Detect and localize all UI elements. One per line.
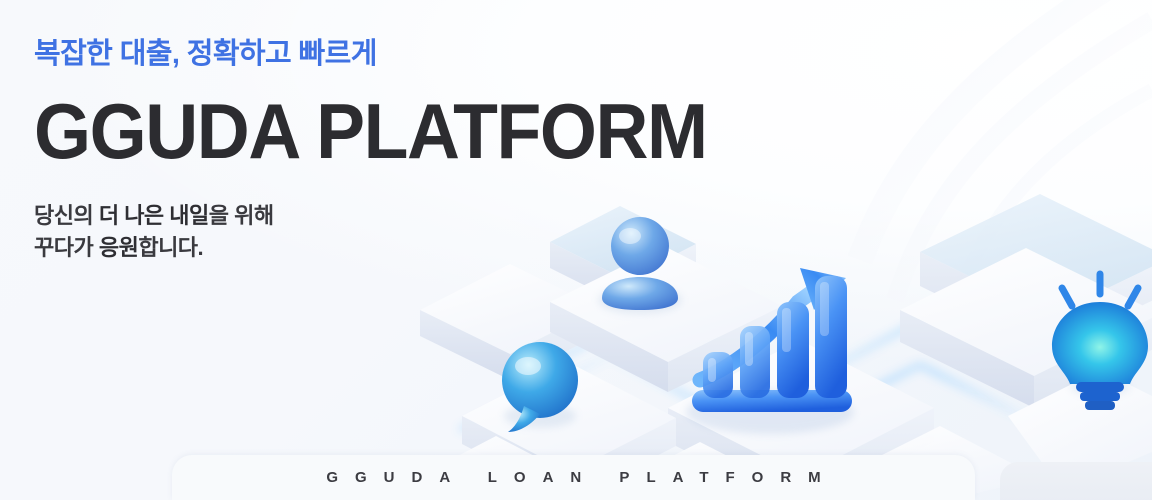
subtitle-l2-tail: 합니다. [138,235,203,260]
hero-subtitle: 당신의 더 나은 내일을 위해 꾸다가 응원합니다. [34,200,750,262]
subtitle-l2-lead: 꾸다가 [34,235,99,260]
hero-copy: 복잡한 대출, 정확하고 빠르게 GGUDA PLATFORM 당신의 더 나은… [34,36,750,263]
brand-ribbon: GGUDA LOAN PLATFORM [172,455,975,500]
subtitle-l1-tail: 을 위해 [209,203,274,228]
ribbon-backdrop-panel [1000,462,1152,500]
page-title: GGUDA PLATFORM [34,94,707,168]
hero-subtitle-line-1: 당신의 더 나은 내일을 위해 [34,200,750,231]
speech-bubble-icon [502,342,578,432]
hero-subtitle-line-2: 꾸다가 응원합니다. [34,232,750,263]
subtitle-l1-lead: 당신의 [34,203,99,228]
subtitle-l2-strong: 응원 [99,235,138,260]
hero-banner: 복잡한 대출, 정확하고 빠르게 GGUDA PLATFORM 당신의 더 나은… [0,0,1152,500]
ribbon-label: GGUDA LOAN PLATFORM [309,469,837,486]
hero-tagline: 복잡한 대출, 정확하고 빠르게 [34,36,750,72]
subtitle-l1-strong: 더 나은 내일 [99,203,209,228]
